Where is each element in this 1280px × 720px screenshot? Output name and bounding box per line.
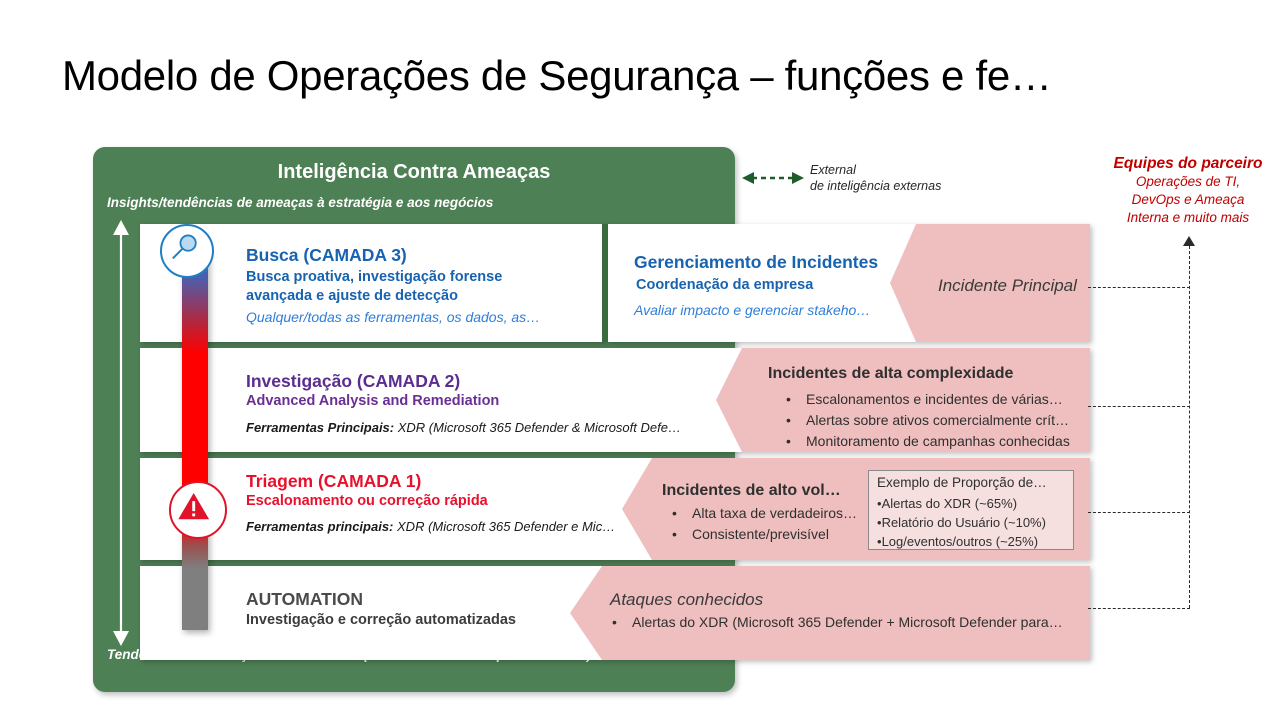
- bullet-text: Alertas do XDR (Microsoft 365 Defender +…: [632, 614, 1063, 630]
- high-complexity-heading: Incidentes de alta complexidade: [768, 365, 1013, 383]
- external-intel-line2: de inteligência externas: [810, 178, 941, 194]
- investigation-subtitle: Advanced Analysis and Remediation: [246, 393, 499, 409]
- investigation-title: Investigação (CAMADA 2): [246, 371, 460, 392]
- partner-teams-line1: Operações de TI,: [1098, 173, 1278, 191]
- triage-tools-label: Ferramentas principais:: [246, 519, 393, 534]
- investigation-tools-value: XDR (Microsoft 365 Defender & Microsoft …: [398, 420, 681, 435]
- connector-known-attacks: [1088, 608, 1190, 609]
- external-intel-line1: External: [810, 162, 941, 178]
- proportion-item: Log/eventos/outros (~25%): [882, 534, 1038, 549]
- magnifier-icon: [160, 224, 214, 278]
- bullet-text: Escalonamentos e incidentes de várias…: [806, 391, 1063, 407]
- high-volume-heading: Incidentes de alto vol…: [662, 482, 841, 500]
- partner-connector-vertical: [1189, 246, 1190, 608]
- hunting-title: Busca (CAMADA 3): [246, 245, 407, 266]
- page-title: Modelo de Operações de Segurança – funçõ…: [62, 50, 1242, 102]
- connector-high-volume: [1088, 512, 1190, 513]
- proportion-example-heading: Exemplo de Proporção de…: [877, 475, 1047, 490]
- proportion-item: Relatório do Usuário (~10%): [882, 515, 1046, 530]
- threat-intelligence-subheading: Insights/tendências de ameaças à estraté…: [107, 195, 727, 210]
- external-intel-label: External de inteligência externas: [810, 162, 941, 194]
- partner-teams-line2: DevOps e Ameaça: [1098, 191, 1278, 209]
- hunting-subtitle-line1: Busca proativa, investigação forense: [246, 268, 502, 287]
- partner-teams-block: Equipes do parceiro Operações de TI, Dev…: [1098, 155, 1278, 227]
- investigation-tools: Ferramentas Principais: XDR (Microsoft 3…: [246, 420, 681, 435]
- bullet-text: Alta taxa de verdadeiros…: [692, 505, 857, 521]
- triage-tools-value: XDR (Microsoft 365 Defender e Mic…: [397, 519, 615, 534]
- partner-connector-arrow-icon: [1183, 236, 1195, 246]
- row1-divider: [602, 224, 608, 342]
- connector-major-incident: [1088, 287, 1190, 288]
- severity-gradient-bar: [182, 246, 208, 630]
- incident-management-note: Avaliar impacto e gerenciar stakeho…: [634, 302, 870, 318]
- partner-teams-heading: Equipes do parceiro: [1098, 155, 1278, 173]
- investigation-tools-label: Ferramentas Principais:: [246, 420, 394, 435]
- automation-title: AUTOMATION: [246, 589, 363, 610]
- bullet-text: Consistente/previsível: [692, 526, 829, 542]
- major-incident-label: Incidente Principal: [938, 276, 1077, 296]
- partner-teams-line3: Interna e muito mais: [1098, 209, 1278, 227]
- hunting-note: Qualquer/todas as ferramentas, os dados,…: [246, 309, 540, 325]
- hunting-subtitle-line2: avançada e ajuste de detecção: [246, 287, 458, 306]
- warning-triangle-icon: [169, 481, 227, 539]
- connector-high-complexity: [1088, 406, 1190, 407]
- triage-tools: Ferramentas principais: XDR (Microsoft 3…: [246, 519, 615, 534]
- high-complexity-bullets: •Escalonamentos e incidentes de várias… …: [786, 389, 1070, 452]
- threat-intelligence-heading: Inteligência Contra Ameaças: [93, 161, 735, 184]
- bullet-text: Alertas sobre ativos comercialmente crít…: [806, 412, 1069, 428]
- known-attacks-heading: Ataques conhecidos: [610, 590, 763, 610]
- vertical-double-arrow-icon: [107, 218, 135, 648]
- proportion-item: Alertas do XDR (~65%): [882, 496, 1017, 511]
- bullet-text: Monitoramento de campanhas conhecidas: [806, 433, 1070, 449]
- proportion-example-box: Exemplo de Proporção de… •Alertas do XDR…: [868, 470, 1074, 550]
- automation-subtitle: Investigação e correção automatizadas: [246, 612, 516, 628]
- known-attacks-bullets: •Alertas do XDR (Microsoft 365 Defender …: [612, 612, 1063, 633]
- incident-management-subtitle: Coordenação da empresa: [636, 276, 813, 295]
- high-volume-bullets: •Alta taxa de verdadeiros… •Consistente/…: [672, 503, 857, 545]
- incident-management-title: Gerenciamento de Incidentes: [634, 252, 878, 273]
- external-intel-double-arrow-icon: [742, 170, 804, 186]
- triage-title: Triagem (CAMADA 1): [246, 471, 421, 492]
- slide-canvas: Modelo de Operações de Segurança – funçõ…: [0, 0, 1280, 720]
- triage-subtitle: Escalonamento ou correção rápida: [246, 493, 488, 509]
- proportion-example-items: •Alertas do XDR (~65%) •Relatório do Usu…: [877, 494, 1046, 551]
